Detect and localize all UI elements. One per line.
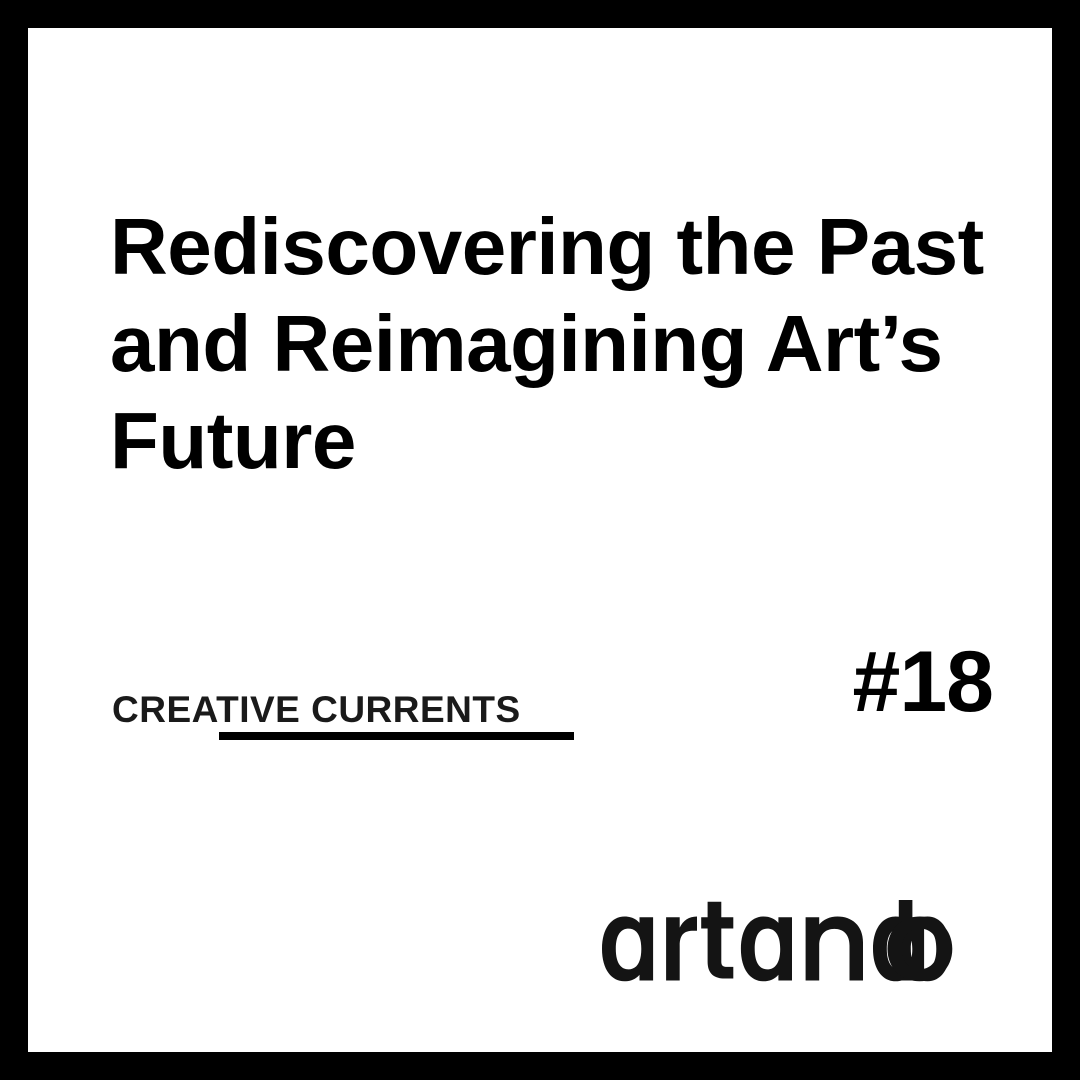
brand-logo: [602, 900, 977, 988]
page-title-line-3: Future: [110, 392, 970, 489]
page-title: Rediscovering the Past and Reimagining A…: [110, 198, 970, 489]
poster-frame: Rediscovering the Past and Reimagining A…: [0, 0, 1080, 1080]
issue-number: #18: [853, 634, 994, 730]
series-label-group: CREATIVE CURRENTS: [112, 688, 672, 778]
series-label: CREATIVE CURRENTS: [112, 688, 521, 732]
page-title-line-2: and Reimagining Art’s: [110, 295, 970, 392]
page-title-line-1: Rediscovering the Past: [110, 198, 970, 295]
series-underline-rule: [219, 732, 574, 740]
poster-card: Rediscovering the Past and Reimagining A…: [28, 28, 1052, 1052]
